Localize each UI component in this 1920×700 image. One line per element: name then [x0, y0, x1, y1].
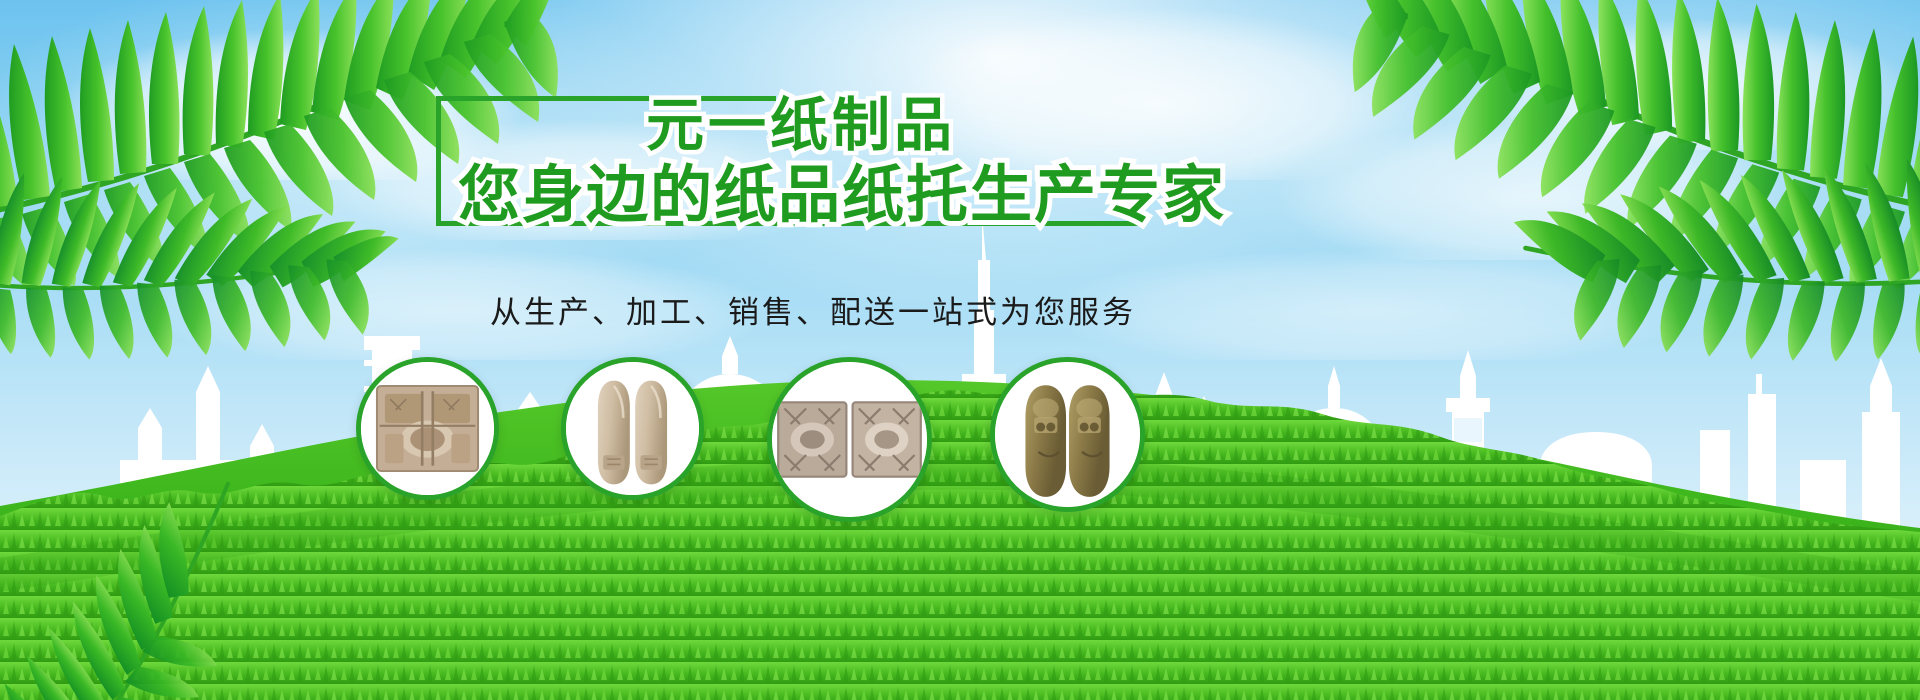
- promo-banner: 元一纸制品 您身边的纸品纸托生产专家 从生产、加工、销售、配送一站式为您服务: [0, 0, 1920, 700]
- green-hill: [0, 310, 1920, 700]
- product-circle-molded-pulp-tray[interactable]: [356, 357, 499, 500]
- svg-text:●●: ●●: [1079, 419, 1099, 433]
- banner-subtitle: 从生产、加工、销售、配送一站式为您服务: [490, 287, 1136, 332]
- product-circle-pulp-packaging-pair[interactable]: [767, 357, 932, 522]
- svg-text:●●: ●●: [1036, 419, 1056, 433]
- product-circle-brown-shoe-form[interactable]: ●● ●●: [990, 357, 1145, 512]
- headline-frame: 元一纸制品 您身边的纸品纸托生产专家: [436, 96, 1140, 226]
- product-circle-paper-shoe-tree[interactable]: [561, 357, 704, 500]
- headline-line-2: 您身边的纸品纸托生产专家: [458, 144, 1226, 234]
